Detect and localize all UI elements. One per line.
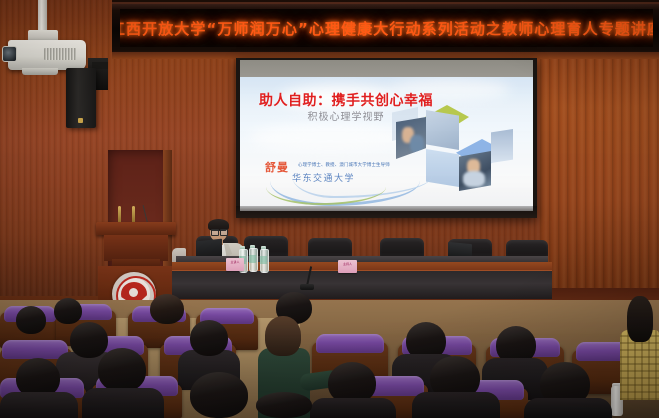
lecture-hall-photo: 江西开放大学“万师润万心”心理健康大行动系列活动之教师心理育人专题讲座 bbox=[0, 0, 659, 418]
screen-bottom-shadow bbox=[236, 206, 537, 218]
slide-subtitle: 积极心理学视野 bbox=[256, 108, 436, 123]
podium-body bbox=[104, 235, 168, 261]
projector-vent bbox=[44, 48, 76, 60]
audience-shoulders bbox=[310, 398, 396, 418]
audience-head bbox=[256, 392, 312, 418]
audience-head bbox=[98, 348, 146, 392]
banner-text: 江西开放大学“万师润万心”心理健康大行动系列活动之教师心理育人专题讲座 bbox=[120, 18, 653, 39]
slide-speaker-name: 舒曼 bbox=[265, 159, 289, 175]
speaker-glasses-bridge bbox=[211, 230, 226, 235]
audience-head bbox=[190, 320, 228, 356]
projector-mount-pole bbox=[38, 0, 47, 34]
audience-shoulders bbox=[0, 392, 78, 418]
audience-head bbox=[16, 306, 46, 334]
audience-head bbox=[627, 296, 653, 342]
name-card-text: 主讲人 bbox=[226, 261, 244, 264]
auditorium-seat-cushion bbox=[2, 340, 68, 359]
desk-microphone bbox=[300, 284, 314, 290]
audience-head bbox=[54, 298, 82, 324]
audience-head bbox=[150, 294, 184, 324]
bottle-label bbox=[249, 255, 256, 263]
name-card: 主持人 bbox=[338, 260, 357, 273]
audience-head bbox=[190, 372, 248, 418]
projector-lens bbox=[2, 46, 17, 62]
screen-top-band bbox=[240, 60, 533, 77]
slide-photo-tile-right bbox=[459, 151, 491, 191]
audience-head bbox=[265, 316, 301, 356]
head-table-front bbox=[172, 271, 552, 299]
slide-speaker-credentials: 心理学博士、教授、澳门城市大学博士生导师 bbox=[298, 162, 406, 168]
slide-cube-edge-strip bbox=[491, 129, 513, 163]
bottle-label bbox=[260, 256, 267, 264]
name-card-text: 主持人 bbox=[338, 263, 357, 266]
slide-title: 助人自助：携手共创心幸福 bbox=[256, 90, 436, 110]
name-card: 主讲人 bbox=[226, 258, 244, 271]
right-wood-wall bbox=[540, 42, 659, 304]
speaker-logo-badge bbox=[78, 118, 83, 123]
podium-top bbox=[96, 222, 176, 235]
led-banner-screen: 江西开放大学“万师润万心”心理健康大行动系列活动之教师心理育人专题讲座 bbox=[120, 9, 653, 47]
audience-head bbox=[70, 322, 108, 358]
audience-shoulders bbox=[82, 388, 164, 418]
presentation-slide: 助人自助：携手共创心幸福 积极心理学视野 舒曼 心理学博士、教授、澳门城市大学博… bbox=[240, 77, 533, 211]
emblem-center-dot bbox=[129, 288, 138, 297]
audience-shoulders bbox=[524, 398, 612, 418]
audience-shoulders bbox=[412, 392, 500, 418]
auditorium-seat-cushion bbox=[316, 334, 384, 353]
slide-photo-tile-left bbox=[396, 117, 426, 159]
slide-cube-face-b bbox=[426, 149, 459, 187]
projector-foot bbox=[22, 68, 58, 75]
